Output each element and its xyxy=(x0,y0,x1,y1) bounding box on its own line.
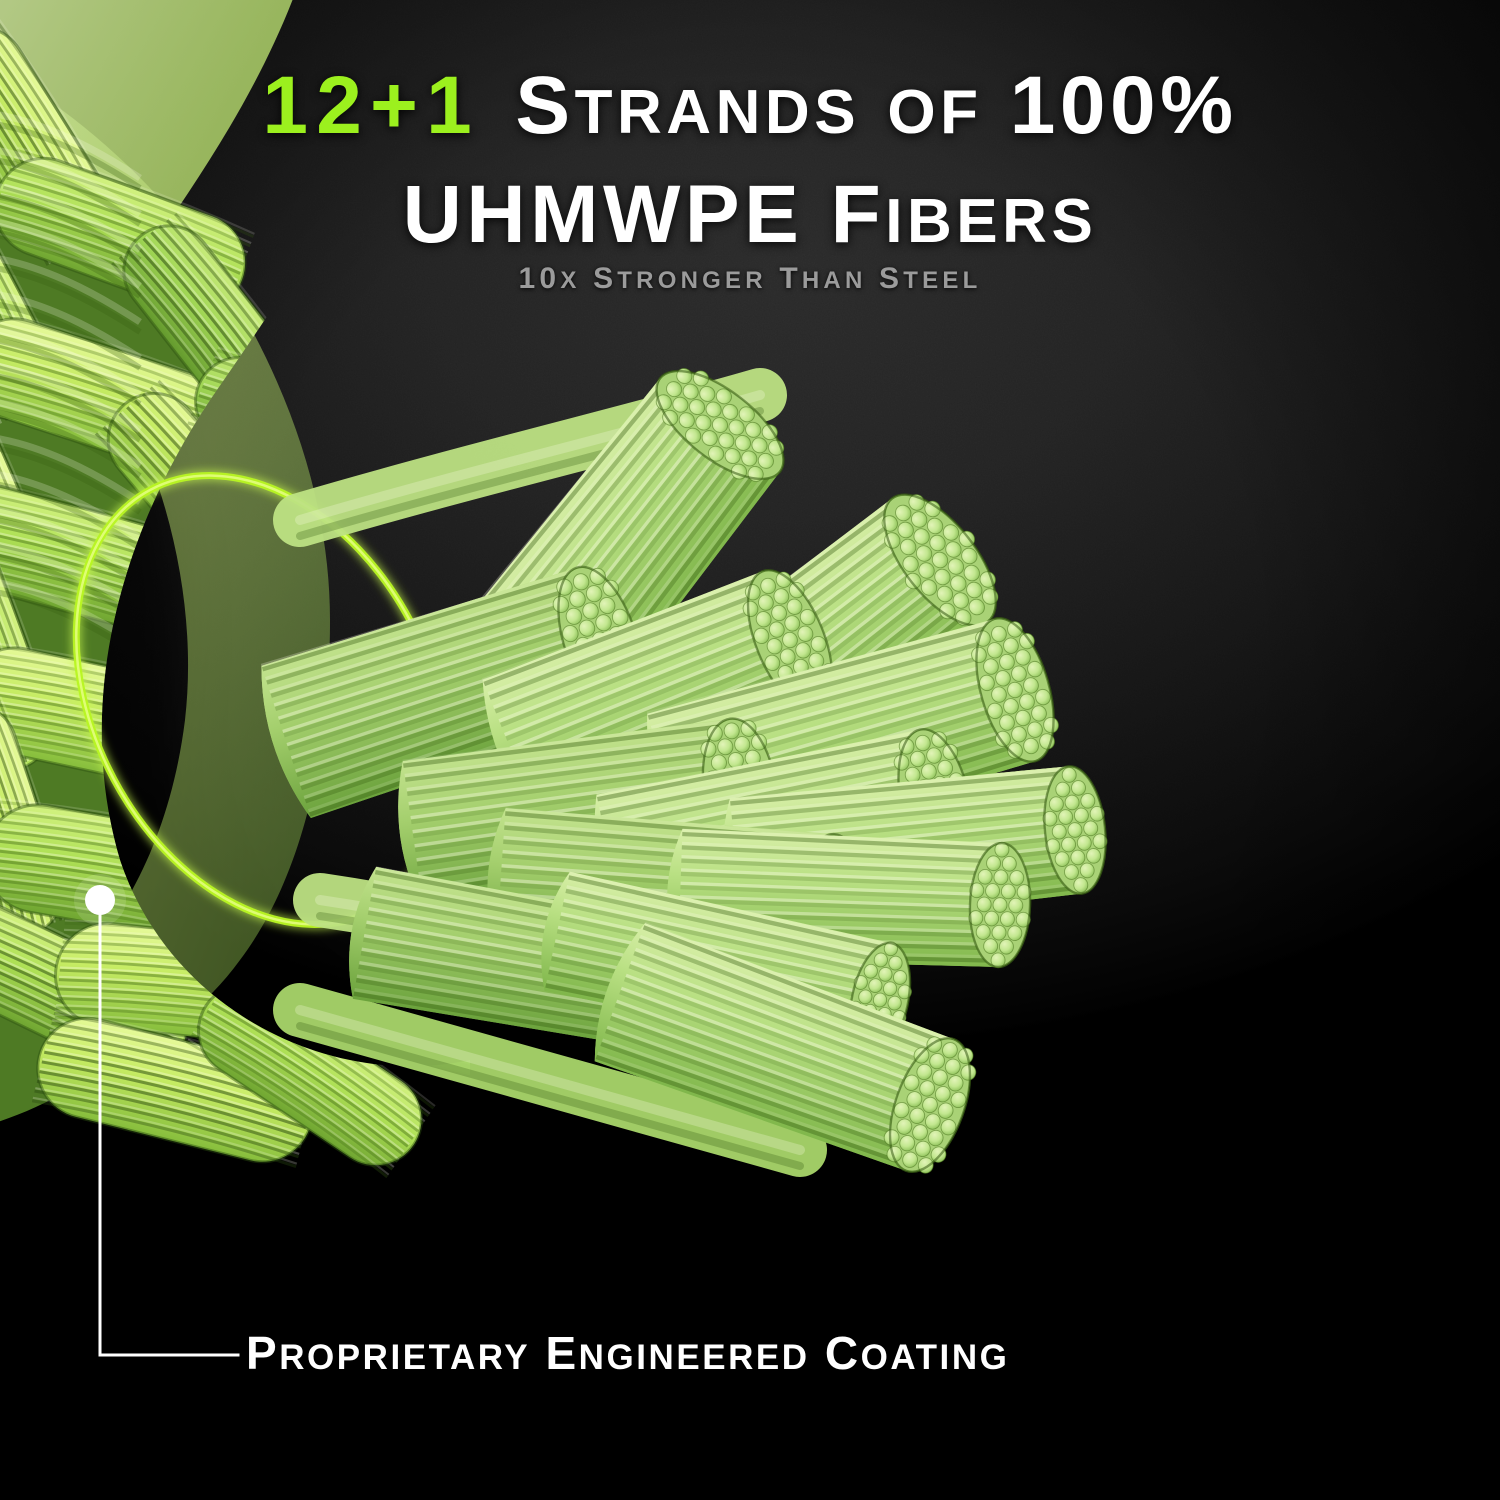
product-illustration xyxy=(0,0,1500,1500)
infographic-canvas: 12+1 STRANDS OF 100% UHMWPE FIBERS 10X S… xyxy=(0,0,1500,1500)
callout-label: PROPRIETARY ENGINEERED COATING xyxy=(246,1326,1009,1380)
subheadline: 10X STRONGER THAN STEEL xyxy=(0,262,1500,296)
